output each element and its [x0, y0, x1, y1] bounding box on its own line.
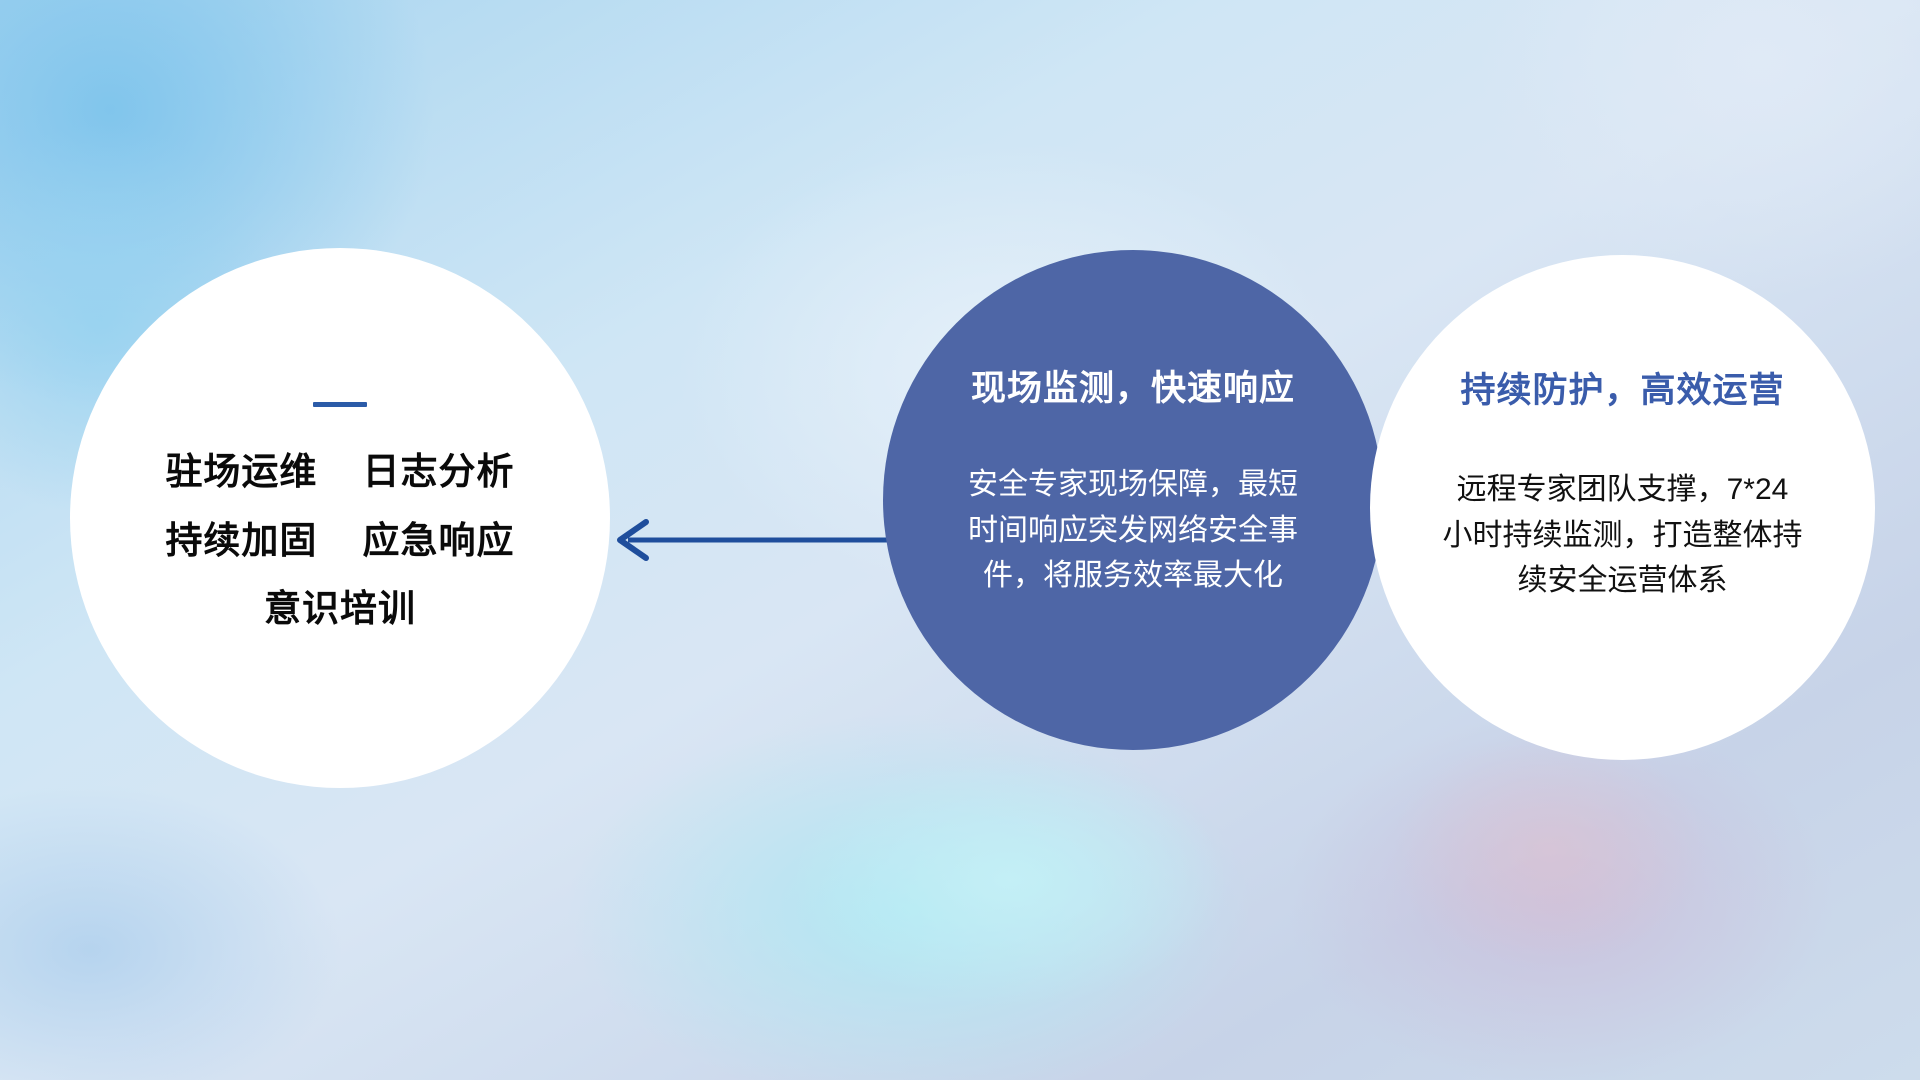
capability-line-1: 驻场运维 日志分析 — [70, 451, 610, 494]
capability-line-2: 持续加固 应急响应 — [70, 520, 610, 563]
continuous-protection-body: 远程专家团队支撑，7*24小时持续监测，打造整体持续安全运营体系 — [1443, 467, 1803, 604]
continuous-protection-title: 持续防护，高效运营 — [1460, 370, 1784, 412]
capability-line-3: 意识培训 — [70, 588, 610, 631]
capability-list: 驻场运维 日志分析 持续加固 应急响应 意识培训 — [70, 451, 610, 631]
connector-arrow — [600, 510, 900, 570]
capability-circle-left[interactable]: 驻场运维 日志分析 持续加固 应急响应 意识培训 — [70, 248, 610, 788]
slide-canvas: 驻场运维 日志分析 持续加固 应急响应 意识培训 现场监测，快速响应 安全专家现… — [0, 0, 1920, 1080]
divider-dash — [313, 402, 367, 407]
onsite-monitoring-body: 安全专家现场保障，最短时间响应突发网络安全事件，将服务效率最大化 — [968, 462, 1298, 599]
onsite-monitoring-title: 现场监测，快速响应 — [971, 368, 1295, 410]
continuous-protection-circle[interactable]: 持续防护，高效运营 远程专家团队支撑，7*24小时持续监测，打造整体持续安全运营… — [1370, 255, 1875, 760]
onsite-monitoring-circle[interactable]: 现场监测，快速响应 安全专家现场保障，最短时间响应突发网络安全事件，将服务效率最… — [883, 250, 1383, 750]
